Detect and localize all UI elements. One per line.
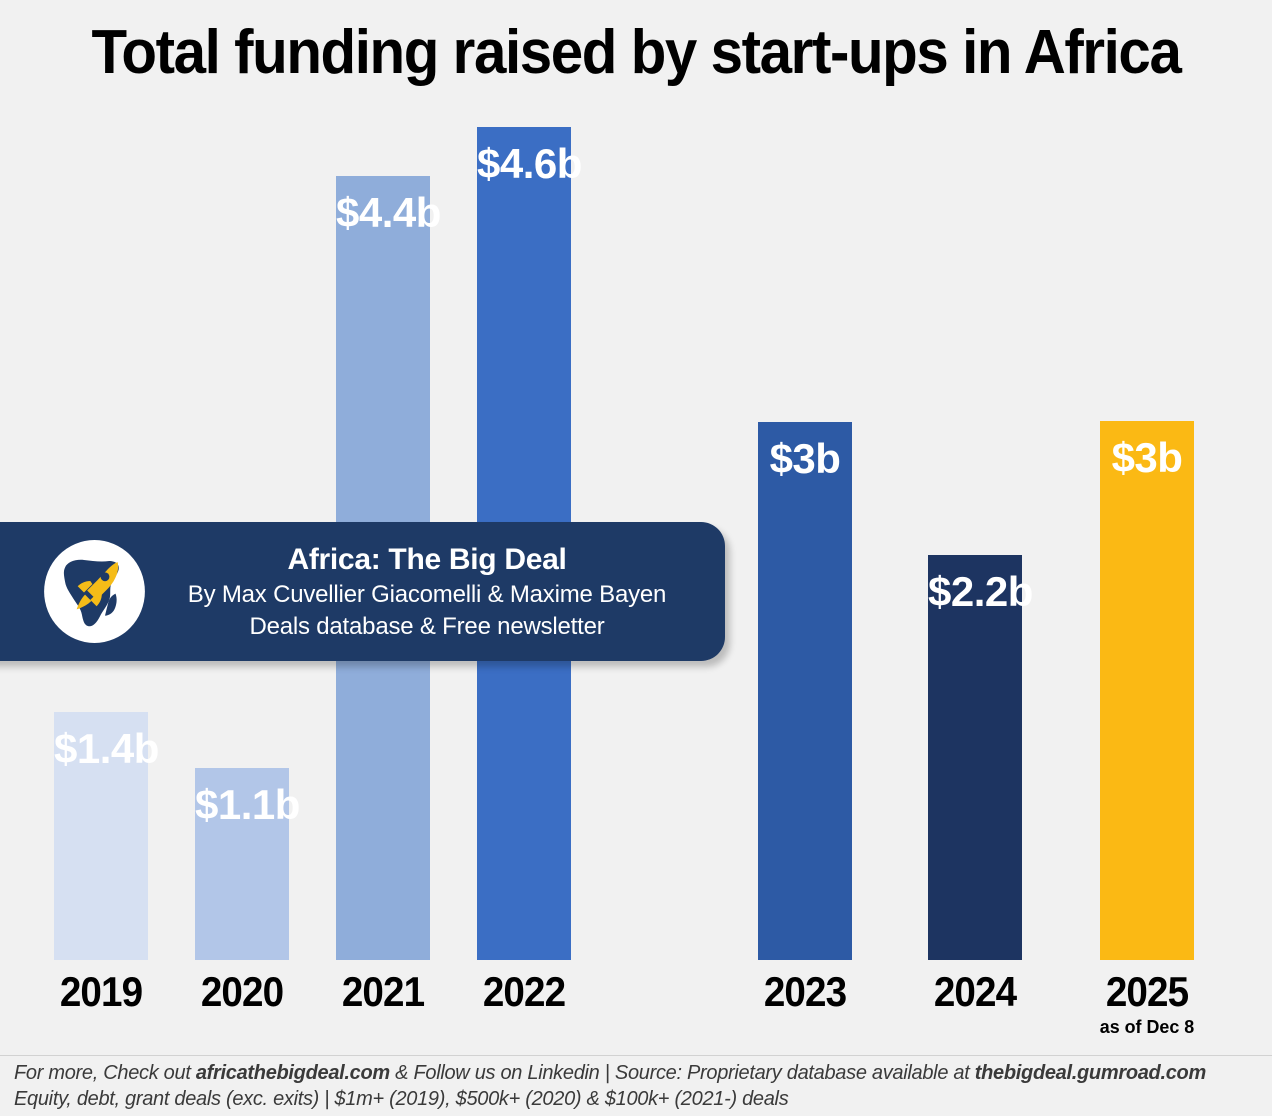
bar-2023: $3b [758, 422, 852, 960]
footer-line-1: For more, Check out africathebigdeal.com… [14, 1060, 1264, 1086]
footer-divider [0, 1055, 1272, 1056]
x-axis-tick-year-2024: 2024 [934, 968, 1016, 1015]
bar-value-label-2025: $3b [1100, 435, 1194, 481]
footer-line-2: Equity, debt, grant deals (exc. exits) |… [14, 1086, 1264, 1112]
x-axis-tick-2022: 2022 [455, 968, 593, 1016]
footer-text-2: & Follow us on Linkedin | Source: Propri… [390, 1062, 975, 1084]
x-axis-tick-year-2023: 2023 [764, 968, 846, 1015]
brand-tagline: Deals database & Free newsletter [147, 611, 707, 643]
brand-authors: By Max Cuvellier Giacomelli & Maxime Bay… [147, 579, 707, 611]
x-axis-tick-2019: 2019 [32, 968, 170, 1016]
footer-text-1: For more, Check out [14, 1062, 196, 1084]
x-axis-tick-year-2020: 2020 [201, 968, 283, 1015]
x-axis-tick-note-2025: as of Dec 8 [1072, 1016, 1221, 1038]
bar-2019: $1.4b [54, 712, 148, 960]
bar-value-label-2019: $1.4b [54, 726, 148, 772]
bar-value-label-2023: $3b [758, 436, 852, 482]
brand-text-block: Africa: The Big Deal By Max Cuvellier Gi… [147, 541, 725, 643]
brand-title: Africa: The Big Deal [147, 541, 707, 579]
bar-2025: $3b [1100, 421, 1194, 960]
bar-value-label-2021: $4.4b [336, 190, 430, 236]
bar-value-label-2022: $4.6b [477, 141, 571, 187]
footer-note: For more, Check out africathebigdeal.com… [14, 1060, 1264, 1112]
x-axis-tick-2021: 2021 [314, 968, 452, 1016]
x-axis-tick-year-2022: 2022 [483, 968, 565, 1015]
x-axis-tick-2023: 2023 [736, 968, 874, 1016]
brand-card: Africa: The Big Deal By Max Cuvellier Gi… [0, 522, 725, 661]
bar-2020: $1.1b [195, 768, 289, 960]
x-axis-tick-year-2025: 2025 [1106, 968, 1188, 1015]
africa-rocket-logo-icon [42, 539, 147, 644]
x-axis-tick-2024: 2024 [906, 968, 1044, 1016]
footer-link-gumroad[interactable]: thebigdeal.gumroad.com [975, 1062, 1206, 1084]
x-axis-tick-year-2019: 2019 [60, 968, 142, 1015]
bar-value-label-2024: $2.2b [928, 569, 1022, 615]
bar-value-label-2020: $1.1b [195, 782, 289, 828]
x-axis-tick-2025: 2025as of Dec 8 [1078, 968, 1216, 1038]
x-axis-tick-year-2021: 2021 [342, 968, 424, 1015]
bar-2024: $2.2b [928, 555, 1022, 960]
x-axis-tick-2020: 2020 [173, 968, 311, 1016]
footer-link-africathebigdeal[interactable]: africathebigdeal.com [196, 1062, 390, 1084]
